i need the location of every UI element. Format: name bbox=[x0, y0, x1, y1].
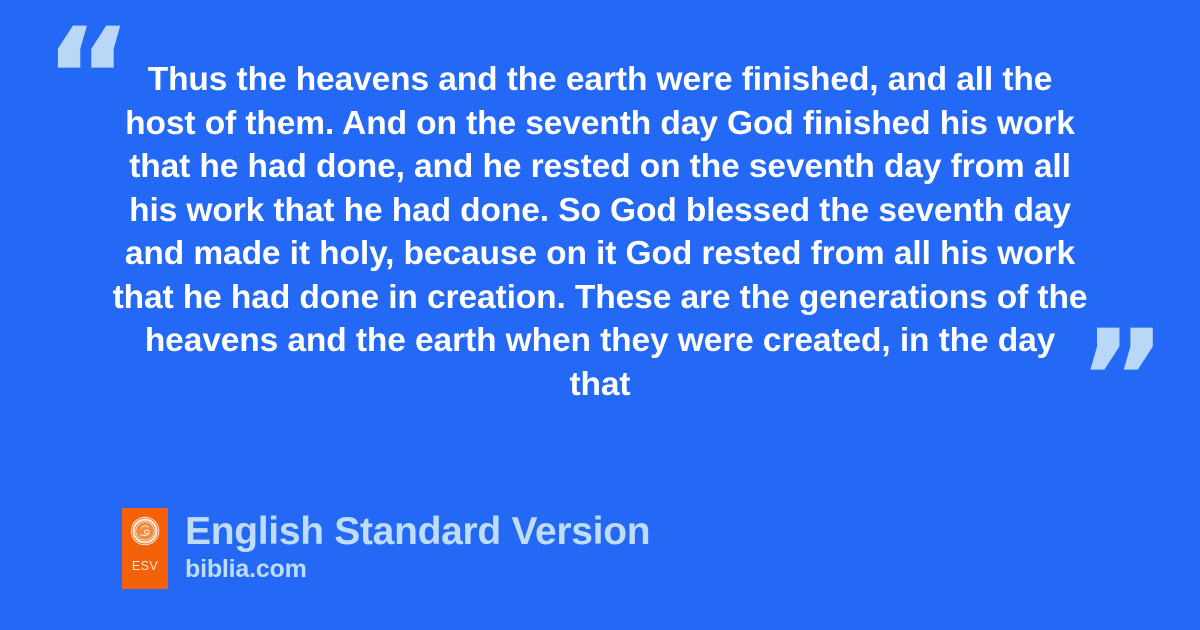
quote-text: Thus the heavens and the earth were fini… bbox=[110, 58, 1090, 406]
brand-text: English Standard Version biblia.com bbox=[185, 508, 650, 584]
attribution: ESV English Standard Version biblia.com bbox=[122, 508, 650, 589]
bible-version-title: English Standard Version bbox=[185, 509, 650, 554]
esv-logo-badge: ESV bbox=[122, 508, 168, 589]
quote-card: “ Thus the heavens and the earth were fi… bbox=[0, 0, 1200, 630]
esv-seal-icon bbox=[130, 516, 160, 546]
close-quote-icon: ” bbox=[1078, 312, 1165, 447]
source-url: biblia.com bbox=[185, 554, 650, 584]
quote-body: Thus the heavens and the earth were fini… bbox=[110, 58, 1090, 406]
esv-logo-abbreviation: ESV bbox=[132, 560, 158, 573]
